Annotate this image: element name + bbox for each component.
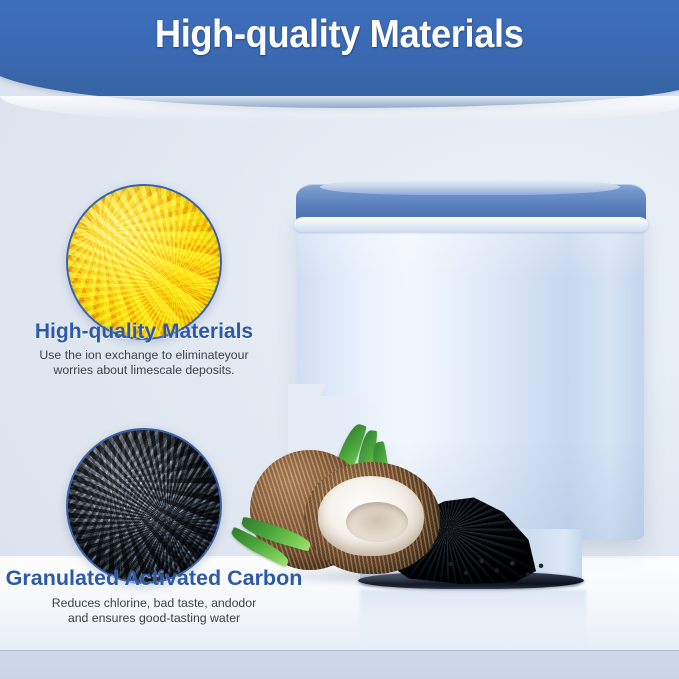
feature-caption-materials: High-quality Materials Use the ion excha… bbox=[8, 320, 280, 378]
filter-cap-top bbox=[320, 179, 620, 195]
filter-cap-rim bbox=[294, 217, 648, 232]
feature-description: Reduces chlorine, bad taste, andodor and… bbox=[4, 596, 304, 626]
page-title: High-quality Materials bbox=[155, 13, 524, 57]
activated-carbon-swatch bbox=[66, 428, 222, 584]
product-feature-image: High-quality Materials Use the ion excha… bbox=[0, 0, 679, 679]
header-banner-inner: High-quality Materials bbox=[0, 0, 679, 70]
ion-exchange-resin-swatch bbox=[66, 184, 222, 340]
feature-title: Granulated Activated Carbon bbox=[4, 566, 304, 591]
feature-description: Use the ion exchange to eliminateyour wo… bbox=[8, 348, 280, 378]
feature-description-line2: and ensures good-tasting water bbox=[68, 611, 240, 625]
coconut-flesh bbox=[318, 476, 424, 556]
table-front-band-line bbox=[0, 650, 679, 651]
coconut-illustration bbox=[246, 440, 506, 585]
header-banner: High-quality Materials bbox=[0, 0, 679, 108]
coconut-half bbox=[304, 462, 440, 574]
feature-description-line1: Use the ion exchange to eliminateyour bbox=[39, 348, 248, 362]
feature-caption-carbon: Granulated Activated Carbon Reduces chlo… bbox=[4, 566, 304, 626]
carbon-granule-scatter bbox=[442, 552, 552, 582]
table-front-band bbox=[0, 650, 679, 679]
feature-description-line1: Reduces chlorine, bad taste, andodor bbox=[52, 596, 256, 610]
coconut-cavity bbox=[346, 502, 408, 542]
feature-title: High-quality Materials bbox=[8, 320, 280, 344]
feature-description-line2: worries about limescale deposits. bbox=[53, 363, 234, 377]
